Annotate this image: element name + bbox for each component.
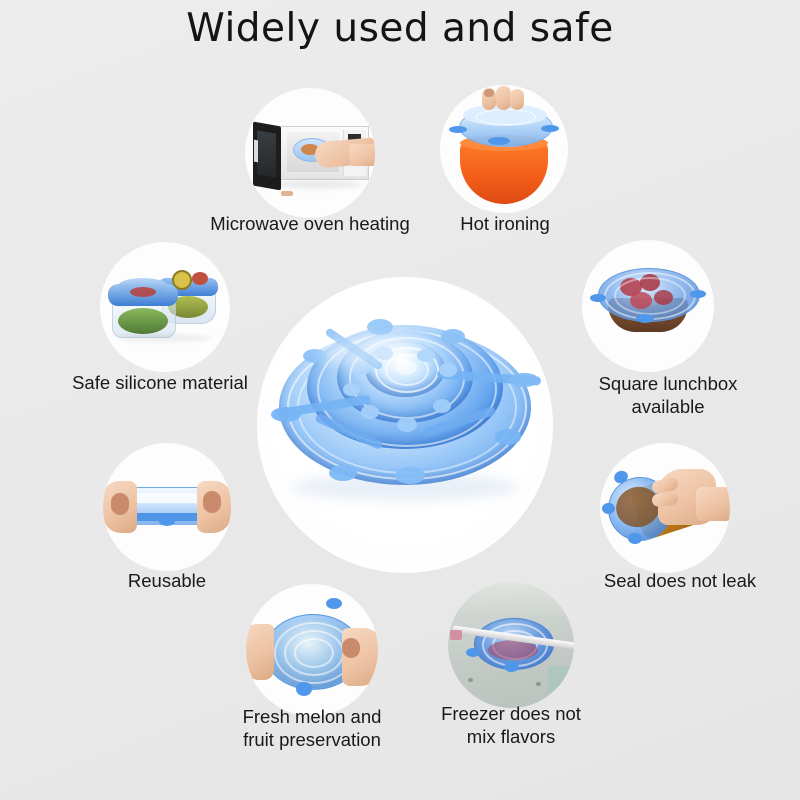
reusable-scene — [103, 443, 231, 571]
feature-thumbnail-freezer-does-not-mix-flavors[interactable] — [448, 582, 574, 708]
lid-knob-7 — [361, 405, 379, 419]
feature-thumbnail-square-lunchbox-available[interactable] — [582, 240, 714, 372]
lid-tab-bottom — [296, 682, 312, 696]
lid-tab-left — [590, 294, 606, 302]
feature-label-square-lunchbox-available: Square lunchbox available — [548, 373, 788, 418]
lid-tab-bottom — [636, 314, 654, 323]
feature-thumbnail-hot-ironing[interactable] — [440, 85, 568, 213]
lid-tab-left — [466, 648, 480, 657]
feature-thumbnail-seal-does-not-leak[interactable] — [600, 443, 730, 573]
hand-right-thumb — [203, 491, 221, 513]
container-left-garnish — [130, 287, 156, 297]
feature-thumbnail-microwave-oven-heating[interactable] — [245, 88, 375, 218]
lid-ring-3 — [294, 638, 334, 668]
page-title: Widely used and safe — [0, 6, 800, 51]
square-lunchbox-scene — [582, 240, 714, 372]
lid-tab-ne — [441, 329, 465, 344]
microwave-scene — [245, 88, 375, 218]
lid-ring-inner — [614, 277, 686, 315]
hot-ironing-scene — [440, 85, 568, 213]
finger-3 — [510, 89, 524, 110]
lid-tab-front — [488, 137, 510, 145]
lid-tab-left — [602, 503, 615, 514]
feature-label-seal-does-not-leak: Seal does not leak — [560, 570, 800, 593]
table-shadow — [116, 334, 212, 342]
forearm — [349, 144, 375, 166]
freezer-scene — [448, 582, 574, 708]
finger-2 — [496, 86, 511, 110]
lid-tab-right — [541, 125, 559, 132]
lid-knob-3 — [417, 349, 435, 362]
seal-no-leak-scene — [600, 443, 730, 573]
brand-mark — [281, 191, 293, 196]
feature-label-reusable: Reusable — [67, 570, 267, 593]
microwave-door-window — [257, 130, 276, 177]
feature-label-hot-ironing: Hot ironing — [430, 213, 580, 236]
freezer-shelf-bracket — [450, 630, 462, 640]
counter-shadow — [271, 180, 363, 189]
lid-gloss-highlight — [319, 335, 407, 369]
lid-tab-se — [495, 429, 521, 445]
hand-left-thumb — [111, 493, 129, 515]
freezer-frost-spot-1 — [468, 678, 473, 682]
feature-thumbnail-fresh-melon-and-fruit-preservation[interactable] — [246, 584, 378, 716]
lid-tab-left — [449, 126, 467, 133]
container-right-garnish-2 — [192, 272, 208, 285]
lid-inner-ring — [476, 109, 536, 125]
wrist — [696, 487, 730, 521]
product-infographic: Widely used and safe Microwave — [0, 0, 800, 800]
hero-product-image[interactable] — [257, 277, 553, 573]
lid-knob-6 — [397, 417, 417, 432]
freezer-wall-panel — [448, 582, 574, 616]
lid-tab-sw — [329, 465, 357, 481]
safe-silicone-scene — [100, 242, 230, 372]
lid-tab-bottom — [504, 662, 519, 672]
lid-knob-8 — [343, 383, 360, 396]
feature-thumbnail-reusable[interactable] — [103, 443, 231, 571]
freezer-side-panel — [548, 666, 574, 692]
lid-tab-bottom — [628, 533, 642, 544]
fresh-melon-scene — [246, 584, 378, 716]
feature-label-microwave-oven-heating: Microwave oven heating — [160, 213, 460, 236]
thumb-nail — [484, 89, 494, 97]
lid-knob-4 — [439, 363, 457, 377]
feature-thumbnail-safe-silicone-material[interactable] — [100, 242, 230, 372]
freezer-frost-spot-2 — [536, 682, 541, 686]
lid-tab-e — [509, 373, 539, 387]
lid-tab-n — [367, 319, 393, 335]
feature-label-safe-silicone-material: Safe silicone material — [20, 372, 300, 395]
lid-tab-right — [690, 290, 706, 298]
feature-label-freezer-does-not-mix-flavors: Freezer does not mix flavors — [411, 703, 611, 748]
feature-label-fresh-melon-and-fruit-preservation: Fresh melon and fruit preservation — [212, 706, 412, 751]
lid-tab-w — [271, 407, 301, 422]
lid-tab-center — [159, 517, 175, 526]
lid-core-center — [395, 360, 417, 375]
hand-left — [246, 624, 274, 680]
microwave-door-handle — [254, 140, 258, 163]
container-left-food — [118, 308, 168, 334]
lid-tab-top-right — [326, 598, 342, 609]
lid-knob-5 — [433, 399, 451, 413]
lid-tab-s — [395, 467, 425, 484]
hand-right-thumb — [342, 638, 360, 658]
